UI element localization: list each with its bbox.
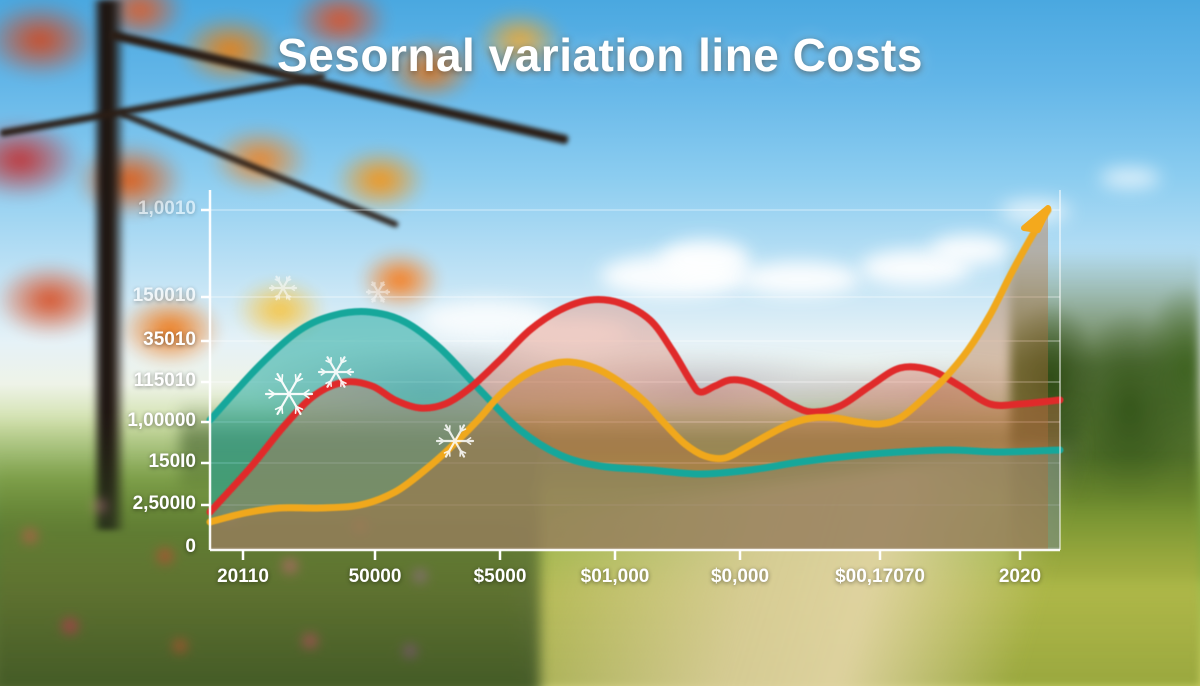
y-axis-tick-label: 115010 [134, 370, 196, 392]
y-axis-tick-label: 2,500I0 [133, 493, 196, 515]
y-axis-tick-label: 1,00000 [127, 410, 196, 432]
x-axis-tick-label: 2020 [930, 566, 1110, 588]
y-axis-tick-label: 150010 [133, 285, 196, 307]
y-axis-tick-label: 35010 [143, 329, 196, 351]
y-axis-tick-label: 150I0 [148, 451, 196, 473]
y-axis-tick-label: 1,0010 [138, 198, 196, 220]
y-axis-tick-label: 0 [185, 536, 196, 558]
page-title: Sesornal variation line Costs [0, 28, 1200, 82]
series-areas [210, 210, 1060, 550]
chart-screenshot: Sesornal variation line Costs 1,00101500… [0, 0, 1200, 686]
